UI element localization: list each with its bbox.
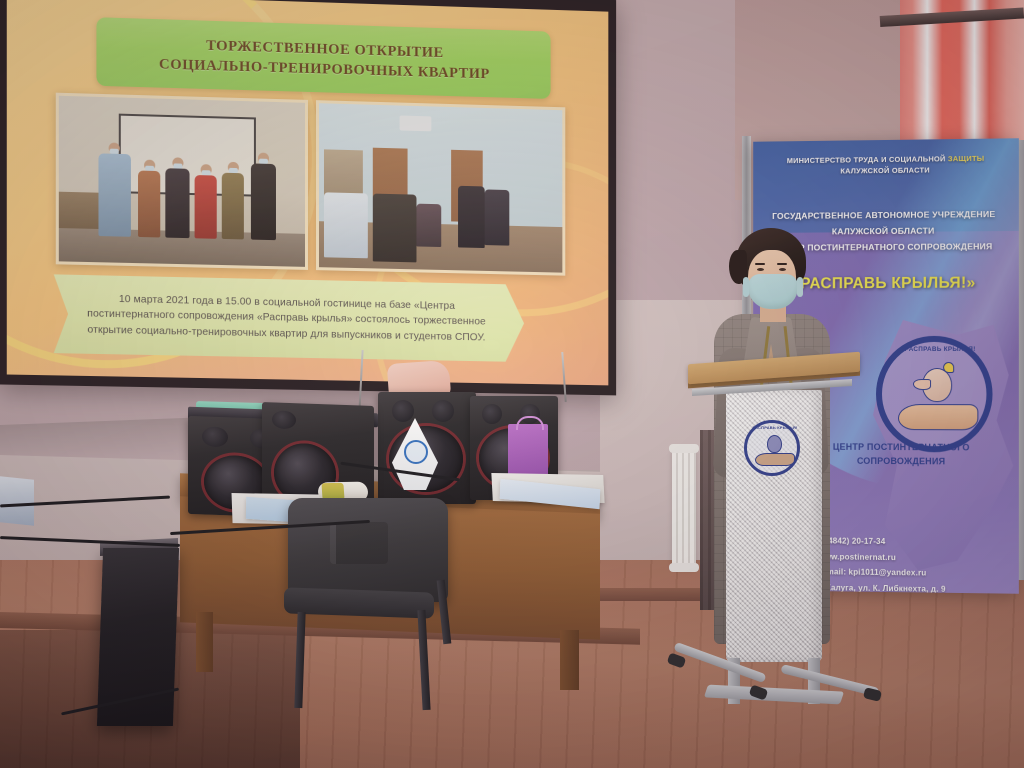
slide-photo-audience: [316, 100, 565, 276]
tweeter: [392, 400, 414, 422]
photo-person: [458, 186, 485, 249]
photo-projector: [400, 115, 432, 131]
ministry-line-2: КАЛУЖСКОЙ ОБЛАСТИ: [840, 166, 930, 176]
ministry-highlight: ЗАЩИТЫ: [948, 154, 984, 163]
wall-mounted-box: [0, 476, 34, 526]
podium-base-bar: [704, 685, 844, 705]
emblem-bird-icon: [922, 368, 952, 402]
photo-person: [195, 175, 217, 238]
desk-leg-right: [560, 630, 579, 690]
photo-person: [222, 173, 244, 239]
emblem-circle-text: РАСПРАВЬ КРЫЛЬЯ!: [882, 346, 999, 353]
tweeter: [482, 404, 502, 424]
slide-caption: 10 марта 2021 года в 15.00 в социальной …: [54, 274, 524, 362]
chair-backrest: [288, 498, 448, 602]
photo-person: [373, 193, 417, 263]
banner-emblem-bird-in-hand-icon: РАСПРАВЬ КРЫЛЬЯ!: [876, 336, 993, 453]
photo-group-content: [59, 96, 305, 267]
photo-person: [99, 153, 131, 236]
podium-emblem-text: РАСПРАВЬ КРЫЛЬЯ!: [747, 425, 803, 430]
tweeter: [202, 426, 228, 447]
photo-audience-content: [319, 103, 562, 272]
speaker-eye-left: [757, 268, 764, 271]
photo-person: [324, 192, 368, 259]
speaker-face-mask: [748, 274, 798, 309]
podium: РАСПРАВЬ КРЫЛЬЯ!: [688, 358, 878, 718]
podium-emblem-hand-icon: [755, 453, 795, 466]
tweeter: [432, 400, 454, 422]
slide-caption-text: 10 марта 2021 года в 15.00 в социальной …: [76, 291, 496, 347]
podium-emblem-icon: РАСПРАВЬ КРЫЛЬЯ!: [744, 420, 800, 476]
projection-screen: ТОРЖЕСТВЕННОЕ ОТКРЫТИЕ СОЦИАЛЬНО-ТРЕНИРО…: [0, 0, 616, 395]
slide-photo-row: [56, 93, 566, 276]
podium-emblem-bird-icon: [767, 435, 782, 453]
photo-person: [138, 171, 160, 238]
org-line-1: ГОСУДАРСТВЕННОЕ АВТОНОМНОЕ УЧРЕЖДЕНИЕ: [772, 209, 995, 221]
tent-card-logo-icon: [404, 440, 428, 464]
slide-photo-group: [56, 93, 308, 270]
speaker-eye-right: [779, 268, 786, 271]
org-line-2: КАЛУЖСКОЙ ОБЛАСТИ: [832, 225, 935, 236]
screen-surface: ТОРЖЕСТВЕННОЕ ОТКРЫТИЕ СОЦИАЛЬНО-ТРЕНИРО…: [7, 0, 609, 385]
emblem-hand-icon: [898, 404, 978, 430]
ministry-line-1: МИНИСТЕРСТВО ТРУДА И СОЦИАЛЬНОЙ: [787, 154, 948, 165]
slide-title: ТОРЖЕСТВЕННОЕ ОТКРЫТИЕ СОЦИАЛЬНО-ТРЕНИРО…: [96, 17, 550, 99]
photo-person: [251, 164, 275, 240]
chair-seat: [284, 587, 434, 618]
photo-scene: ТОРЖЕСТВЕННОЕ ОТКРЫТИЕ СОЦИАЛЬНО-ТРЕНИРО…: [0, 0, 1024, 768]
photo-person: [485, 189, 509, 245]
tweeter: [272, 410, 296, 429]
banner-ministry-text: МИНИСТЕРСТВО ТРУДА И СОЦИАЛЬНОЙ ЗАЩИТЫ К…: [761, 152, 1011, 178]
desk-leg-left: [196, 612, 213, 672]
speaker-eyebrow-right: [777, 263, 787, 265]
photo-person: [417, 204, 441, 247]
floor-standing-speaker: [97, 548, 179, 726]
speaker-eyebrow-left: [755, 263, 765, 265]
photo-person: [165, 168, 190, 238]
